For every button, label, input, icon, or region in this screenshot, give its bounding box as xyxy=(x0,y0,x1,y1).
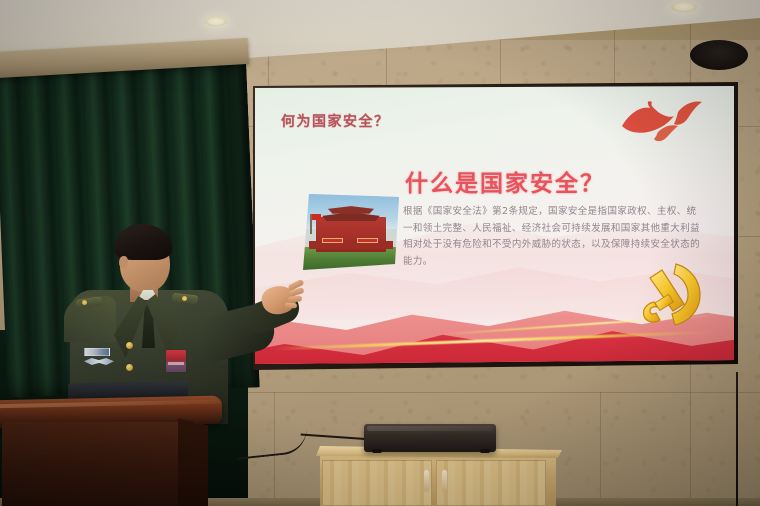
cabinet-handle-right[interactable] xyxy=(442,470,447,492)
wall-panel-seam xyxy=(500,34,501,84)
presentation-screen[interactable]: 何为国家安全？ 什么是国家安全？ 根据《国家安全法》第2条规定，国家安全是指国家… xyxy=(255,86,734,364)
cabinet-handle-left[interactable] xyxy=(424,470,429,492)
presentation-room-scene: 何为国家安全？ 什么是国家安全？ 根据《国家安全法》第2条规定，国家安全是指国家… xyxy=(0,0,760,506)
cabinet-door-left[interactable] xyxy=(322,460,432,506)
uniform-button xyxy=(126,342,133,349)
slide-body-line: 一和领土完整、人民福祉、经济社会可持续发展和国家其他重大利益 xyxy=(403,221,703,238)
slide-body-line: 相对处于没有危险和不受内外威胁的状态，以及保障持续安全状态的 xyxy=(403,237,703,254)
doves-icon xyxy=(616,96,708,152)
rank-star-icon xyxy=(182,296,187,301)
projector-device[interactable] xyxy=(364,424,496,452)
photo-banner-left xyxy=(322,238,343,243)
wall-cable xyxy=(736,372,738,506)
name-badge xyxy=(166,350,186,372)
photo-banner-right xyxy=(357,238,378,243)
rank-star-icon xyxy=(82,300,87,305)
projector-foot xyxy=(372,449,382,453)
service-ribbon-bar xyxy=(84,348,110,356)
wall-speaker xyxy=(690,40,748,70)
podium-side xyxy=(178,418,208,506)
podium-front xyxy=(2,422,198,506)
cpc-emblem-icon xyxy=(632,258,706,332)
finger xyxy=(285,303,297,309)
ear xyxy=(119,256,128,269)
ceiling-downlight xyxy=(671,2,697,12)
wall-panel-seam xyxy=(600,392,601,506)
wall-panel-seam xyxy=(614,28,615,84)
projector-foot xyxy=(480,449,490,453)
slide-body-line: 根据《国家安全法》第2条规定，国家安全是指国家政权、主权、统 xyxy=(403,204,703,221)
wall-panel-seam xyxy=(220,392,760,393)
slide-kicker-title: 何为国家安全？ xyxy=(281,111,390,131)
hair xyxy=(114,224,172,260)
ceiling-downlight xyxy=(205,17,227,26)
slide-headline: 什么是国家安全？ xyxy=(405,164,605,198)
uniform-button xyxy=(126,364,133,371)
photo-flag xyxy=(310,214,312,234)
cabinet-door-right[interactable] xyxy=(436,460,546,506)
